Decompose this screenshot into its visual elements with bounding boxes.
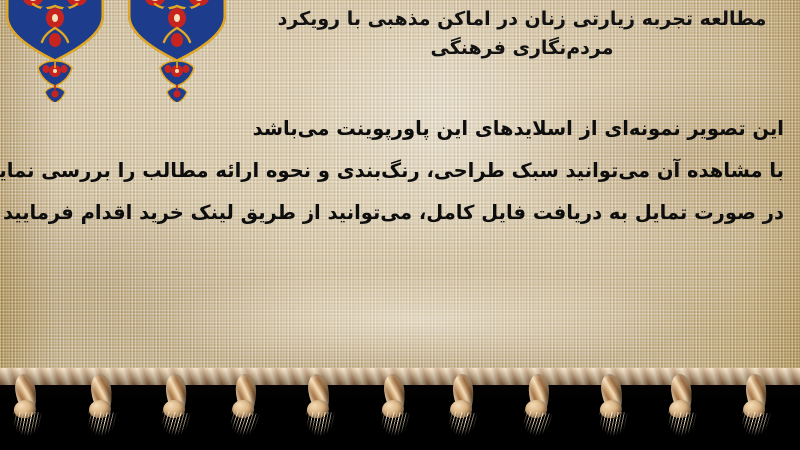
carpet-tassel [159, 374, 194, 450]
slide-body-line-1: این تصویر نمونه‌ای از اسلایدهای این پاور… [14, 108, 784, 150]
tassel-strands [379, 411, 411, 450]
slide-body: این تصویر نمونه‌ای از اسلایدهای این پاور… [14, 108, 784, 234]
carpet-tassel [84, 374, 119, 450]
persian-medallion-ornament-right [124, 0, 230, 102]
carpet-tassel [519, 373, 557, 450]
tassel-strands [446, 411, 479, 450]
carpet-tassel [226, 373, 264, 450]
tassel-strands [599, 412, 629, 450]
tassel-strands [739, 411, 772, 450]
tassel-strands [86, 411, 118, 450]
carpet-tassel [377, 374, 412, 450]
carpet-tassel [664, 374, 699, 450]
tassel-strands [666, 411, 698, 450]
slide-title-line-2: مردم‌نگاری فرهنگی [262, 34, 782, 63]
carpet-tassel [8, 373, 46, 450]
slide-title-line-1: مطالعه تجربه زیارتی زنان در اماکن مذهبی … [262, 5, 782, 34]
slide-title: مطالعه تجربه زیارتی زنان در اماکن مذهبی … [262, 5, 782, 63]
tassel-strands [227, 410, 262, 450]
persian-medallion-ornament-left [2, 0, 108, 102]
slide-body-line-3: در صورت تمایل به دریافت فایل کامل، می‌تو… [14, 192, 784, 234]
tassel-strands [520, 410, 555, 450]
tassel-strands [13, 412, 43, 450]
carpet-tassel [594, 373, 632, 450]
presentation-slide: مطالعه تجربه زیارتی زنان در اماکن مذهبی … [0, 0, 800, 450]
tassel-strands [159, 411, 192, 450]
carpet-tassel [739, 374, 774, 450]
slide-body-line-2: با مشاهده آن می‌توانید سبک طراحی، رنگ‌بن… [14, 150, 784, 192]
tassel-strands [306, 412, 336, 450]
carpet-tassel [446, 374, 481, 450]
carpet-fringe-band [0, 368, 800, 450]
carpet-tassel [301, 373, 339, 450]
